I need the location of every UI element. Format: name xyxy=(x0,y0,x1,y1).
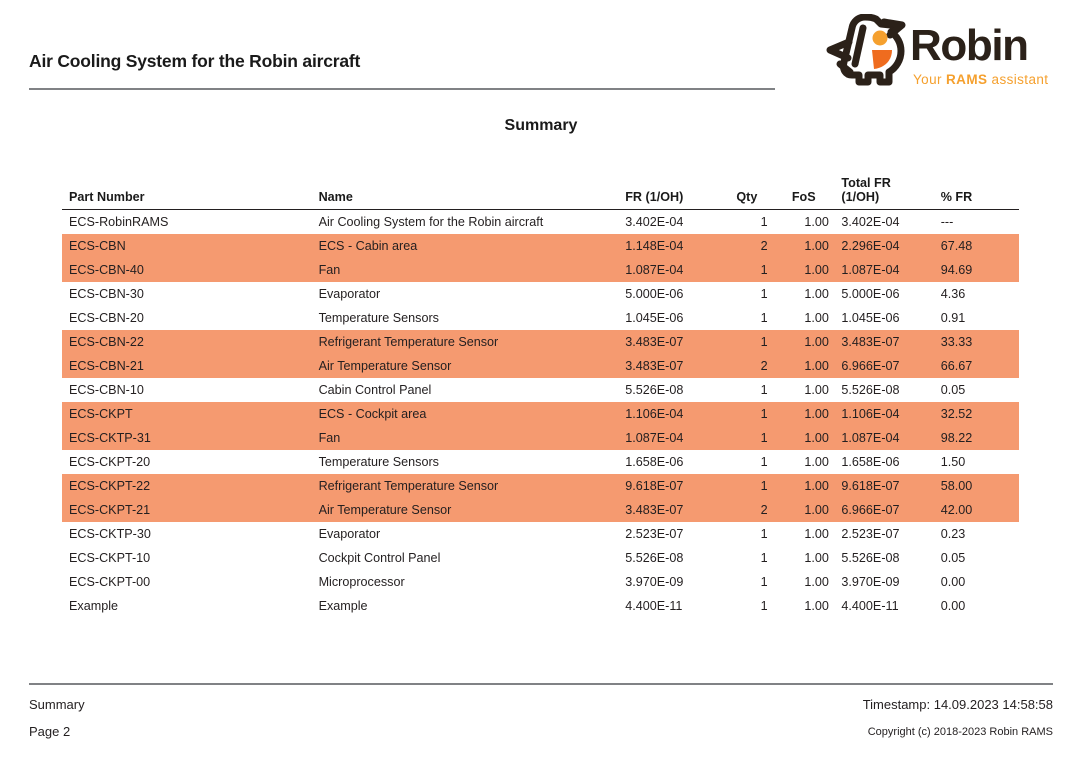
cell-fos: 1.00 xyxy=(792,426,842,450)
robin-logo: Robin Your RAMS assistant xyxy=(818,12,1058,88)
cell-pct-fr: 94.69 xyxy=(941,258,1019,282)
cell-name: Cockpit Control Panel xyxy=(319,546,626,570)
cell-name: Evaporator xyxy=(319,282,626,306)
cell-pct-fr: 0.23 xyxy=(941,522,1019,546)
cell-part-number: Example xyxy=(62,594,319,618)
cell-qty: 1 xyxy=(736,282,791,306)
cell-part-number: ECS-CBN-22 xyxy=(62,330,319,354)
cell-part-number: ECS-CKPT-20 xyxy=(62,450,319,474)
cell-fr: 1.087E-04 xyxy=(625,258,736,282)
table-row[interactable]: ECS-CBN-22Refrigerant Temperature Sensor… xyxy=(62,330,1019,354)
cell-part-number: ECS-CBN-10 xyxy=(62,378,319,402)
cell-name: Refrigerant Temperature Sensor xyxy=(319,330,626,354)
table-row[interactable]: ECS-CKPTECS - Cockpit area1.106E-0411.00… xyxy=(62,402,1019,426)
cell-fos: 1.00 xyxy=(792,522,842,546)
cell-pct-fr: 0.00 xyxy=(941,594,1019,618)
cell-fr: 5.000E-06 xyxy=(625,282,736,306)
cell-pct-fr: 0.05 xyxy=(941,378,1019,402)
cell-part-number: ECS-CKPT xyxy=(62,402,319,426)
cell-part-number: ECS-CBN-30 xyxy=(62,282,319,306)
footer-timestamp: Timestamp: 14.09.2023 14:58:58 xyxy=(863,697,1053,712)
cell-name: Fan xyxy=(319,258,626,282)
cell-total-fr: 1.658E-06 xyxy=(841,450,940,474)
cell-qty: 1 xyxy=(736,594,791,618)
cell-pct-fr: 0.91 xyxy=(941,306,1019,330)
cell-fr: 3.483E-07 xyxy=(625,498,736,522)
cell-name: Microprocessor xyxy=(319,570,626,594)
cell-name: ECS - Cockpit area xyxy=(319,402,626,426)
tagline-prefix: Your xyxy=(913,72,946,87)
cell-part-number: ECS-CBN xyxy=(62,234,319,258)
cell-pct-fr: 0.05 xyxy=(941,546,1019,570)
cell-fr: 1.658E-06 xyxy=(625,450,736,474)
table-row[interactable]: ECS-CBN-10Cabin Control Panel5.526E-0811… xyxy=(62,378,1019,402)
tagline-bold: RAMS xyxy=(946,72,987,87)
cell-qty: 1 xyxy=(736,330,791,354)
cell-fos: 1.00 xyxy=(792,234,842,258)
column-header-name: Name xyxy=(319,176,626,210)
cell-qty: 1 xyxy=(736,258,791,282)
cell-name: Air Temperature Sensor xyxy=(319,354,626,378)
cell-name: Evaporator xyxy=(319,522,626,546)
cell-pct-fr: 1.50 xyxy=(941,450,1019,474)
cell-total-fr: 1.087E-04 xyxy=(841,426,940,450)
table-body: ECS-RobinRAMSAir Cooling System for the … xyxy=(62,210,1019,619)
cell-pct-fr: 67.48 xyxy=(941,234,1019,258)
cell-part-number: ECS-CKPT-10 xyxy=(62,546,319,570)
table-header-row: Part Number Name FR (1/OH) Qty FoS Total… xyxy=(62,176,1019,210)
column-header-pct-fr: % FR xyxy=(941,176,1019,210)
cell-fos: 1.00 xyxy=(792,570,842,594)
cell-fr: 1.148E-04 xyxy=(625,234,736,258)
cell-part-number: ECS-CKTP-30 xyxy=(62,522,319,546)
tagline-suffix: assistant xyxy=(987,72,1048,87)
cell-fr: 5.526E-08 xyxy=(625,378,736,402)
cell-qty: 1 xyxy=(736,426,791,450)
table-row[interactable]: ECS-CBN-21Air Temperature Sensor3.483E-0… xyxy=(62,354,1019,378)
cell-part-number: ECS-CBN-40 xyxy=(62,258,319,282)
cell-pct-fr: 98.22 xyxy=(941,426,1019,450)
table-row[interactable]: ExampleExample4.400E-1111.004.400E-110.0… xyxy=(62,594,1019,618)
logo-wordmark: Robin xyxy=(910,23,1028,69)
cell-qty: 1 xyxy=(736,474,791,498)
column-header-fos: FoS xyxy=(792,176,842,210)
document-footer: Summary Page 2 Timestamp: 14.09.2023 14:… xyxy=(0,683,1082,757)
cell-total-fr: 3.483E-07 xyxy=(841,330,940,354)
cell-total-fr: 5.000E-06 xyxy=(841,282,940,306)
cell-fos: 1.00 xyxy=(792,306,842,330)
cell-total-fr: 1.045E-06 xyxy=(841,306,940,330)
document-header: Air Cooling System for the Robin aircraf… xyxy=(0,0,1082,96)
cell-fos: 1.00 xyxy=(792,210,842,235)
cell-fr: 3.402E-04 xyxy=(625,210,736,235)
cell-name: Air Temperature Sensor xyxy=(319,498,626,522)
cell-qty: 1 xyxy=(736,570,791,594)
cell-fos: 1.00 xyxy=(792,450,842,474)
table-row[interactable]: ECS-CBN-40Fan1.087E-0411.001.087E-0494.6… xyxy=(62,258,1019,282)
cell-qty: 1 xyxy=(736,378,791,402)
cell-name: Cabin Control Panel xyxy=(319,378,626,402)
table-row[interactable]: ECS-CBNECS - Cabin area1.148E-0421.002.2… xyxy=(62,234,1019,258)
cell-fos: 1.00 xyxy=(792,498,842,522)
cell-qty: 2 xyxy=(736,354,791,378)
cell-fos: 1.00 xyxy=(792,330,842,354)
cell-fr: 5.526E-08 xyxy=(625,546,736,570)
footer-page-label: Page 2 xyxy=(29,724,70,739)
cell-qty: 1 xyxy=(736,402,791,426)
footer-divider xyxy=(29,683,1053,685)
cell-fos: 1.00 xyxy=(792,402,842,426)
cell-fr: 3.483E-07 xyxy=(625,330,736,354)
cell-qty: 1 xyxy=(736,546,791,570)
cell-part-number: ECS-CBN-21 xyxy=(62,354,319,378)
cell-fos: 1.00 xyxy=(792,354,842,378)
report-heading: Summary xyxy=(0,117,1082,135)
robin-bird-icon xyxy=(818,14,910,86)
cell-pct-fr: 33.33 xyxy=(941,330,1019,354)
column-header-qty: Qty xyxy=(736,176,791,210)
cell-fr: 1.106E-04 xyxy=(625,402,736,426)
summary-table: Part Number Name FR (1/OH) Qty FoS Total… xyxy=(62,176,1019,618)
cell-qty: 1 xyxy=(736,522,791,546)
table-row[interactable]: ECS-CBN-30Evaporator5.000E-0611.005.000E… xyxy=(62,282,1019,306)
cell-pct-fr: 0.00 xyxy=(941,570,1019,594)
cell-part-number: ECS-CKPT-22 xyxy=(62,474,319,498)
table-row[interactable]: ECS-CKTP-31Fan1.087E-0411.001.087E-0498.… xyxy=(62,426,1019,450)
cell-qty: 2 xyxy=(736,234,791,258)
logo-tagline: Your RAMS assistant xyxy=(913,72,1048,87)
table-row[interactable]: ECS-CKTP-30Evaporator2.523E-0711.002.523… xyxy=(62,522,1019,546)
cell-name: Example xyxy=(319,594,626,618)
cell-total-fr: 6.966E-07 xyxy=(841,354,940,378)
column-header-total-fr: Total FR (1/OH) xyxy=(841,176,940,210)
cell-total-fr: 3.402E-04 xyxy=(841,210,940,235)
cell-fos: 1.00 xyxy=(792,594,842,618)
cell-fos: 1.00 xyxy=(792,282,842,306)
cell-name: Temperature Sensors xyxy=(319,306,626,330)
table-header: Part Number Name FR (1/OH) Qty FoS Total… xyxy=(62,176,1019,210)
cell-fos: 1.00 xyxy=(792,378,842,402)
cell-pct-fr: 32.52 xyxy=(941,402,1019,426)
cell-pct-fr: 4.36 xyxy=(941,282,1019,306)
table-row[interactable]: ECS-RobinRAMSAir Cooling System for the … xyxy=(62,210,1019,235)
cell-fr: 3.483E-07 xyxy=(625,354,736,378)
cell-total-fr: 2.296E-04 xyxy=(841,234,940,258)
cell-total-fr: 5.526E-08 xyxy=(841,378,940,402)
cell-name: Temperature Sensors xyxy=(319,450,626,474)
column-header-part-number: Part Number xyxy=(62,176,319,210)
cell-fr: 3.970E-09 xyxy=(625,570,736,594)
cell-total-fr: 6.966E-07 xyxy=(841,498,940,522)
cell-total-fr: 1.087E-04 xyxy=(841,258,940,282)
cell-qty: 1 xyxy=(736,306,791,330)
footer-copyright: Copyright (c) 2018-2023 Robin RAMS xyxy=(868,726,1053,738)
cell-name: Fan xyxy=(319,426,626,450)
table-row[interactable]: ECS-CKPT-21Air Temperature Sensor3.483E-… xyxy=(62,498,1019,522)
cell-fr: 2.523E-07 xyxy=(625,522,736,546)
cell-qty: 1 xyxy=(736,210,791,235)
table-row[interactable]: ECS-CBN-20Temperature Sensors1.045E-0611… xyxy=(62,306,1019,330)
cell-fos: 1.00 xyxy=(792,474,842,498)
cell-total-fr: 2.523E-07 xyxy=(841,522,940,546)
cell-qty: 1 xyxy=(736,450,791,474)
cell-name: ECS - Cabin area xyxy=(319,234,626,258)
cell-pct-fr: --- xyxy=(941,210,1019,235)
cell-name: Refrigerant Temperature Sensor xyxy=(319,474,626,498)
page-title: Air Cooling System for the Robin aircraf… xyxy=(29,51,360,72)
footer-section-label: Summary xyxy=(29,697,85,712)
cell-total-fr: 1.106E-04 xyxy=(841,402,940,426)
table-row[interactable]: ECS-CKPT-20Temperature Sensors1.658E-061… xyxy=(62,450,1019,474)
cell-qty: 2 xyxy=(736,498,791,522)
column-header-fr: FR (1/OH) xyxy=(625,176,736,210)
table-row[interactable]: ECS-CKPT-10Cockpit Control Panel5.526E-0… xyxy=(62,546,1019,570)
cell-part-number: ECS-CKPT-00 xyxy=(62,570,319,594)
cell-part-number: ECS-CBN-20 xyxy=(62,306,319,330)
cell-pct-fr: 66.67 xyxy=(941,354,1019,378)
cell-total-fr: 3.970E-09 xyxy=(841,570,940,594)
cell-fr: 1.087E-04 xyxy=(625,426,736,450)
cell-fos: 1.00 xyxy=(792,546,842,570)
cell-part-number: ECS-CKPT-21 xyxy=(62,498,319,522)
table-row[interactable]: ECS-CKPT-00Microprocessor3.970E-0911.003… xyxy=(62,570,1019,594)
cell-fr: 4.400E-11 xyxy=(625,594,736,618)
cell-part-number: ECS-RobinRAMS xyxy=(62,210,319,235)
cell-pct-fr: 58.00 xyxy=(941,474,1019,498)
cell-name: Air Cooling System for the Robin aircraf… xyxy=(319,210,626,235)
cell-part-number: ECS-CKTP-31 xyxy=(62,426,319,450)
cell-fos: 1.00 xyxy=(792,258,842,282)
cell-fr: 9.618E-07 xyxy=(625,474,736,498)
cell-total-fr: 4.400E-11 xyxy=(841,594,940,618)
cell-total-fr: 5.526E-08 xyxy=(841,546,940,570)
cell-fr: 1.045E-06 xyxy=(625,306,736,330)
header-divider xyxy=(29,88,775,90)
table-row[interactable]: ECS-CKPT-22Refrigerant Temperature Senso… xyxy=(62,474,1019,498)
cell-pct-fr: 42.00 xyxy=(941,498,1019,522)
cell-total-fr: 9.618E-07 xyxy=(841,474,940,498)
